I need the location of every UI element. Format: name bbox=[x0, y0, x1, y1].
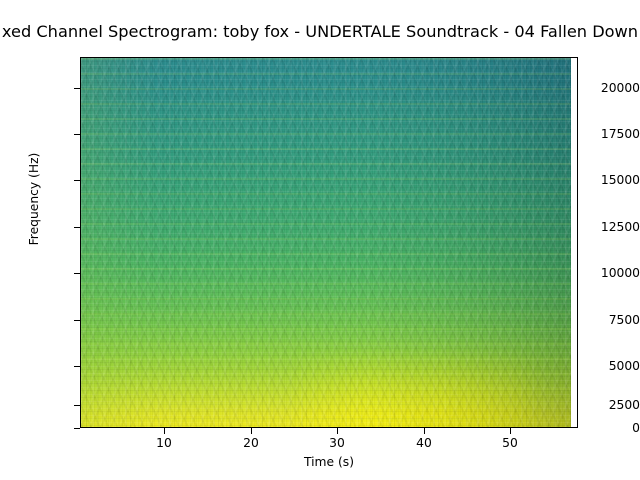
x-ticklabel-50: 50 bbox=[480, 437, 540, 450]
y-axis-label: Frequency (Hz) bbox=[27, 124, 41, 274]
matplotlib-figure: xed Channel Spectrogram: toby fox - UNDE… bbox=[0, 0, 640, 480]
y-ticklabel-5000: 5000 bbox=[572, 360, 640, 372]
x-axis-label: Time (s) bbox=[80, 455, 578, 469]
y-tick-0 bbox=[74, 428, 80, 429]
y-ticklabel-10000: 10000 bbox=[572, 267, 640, 279]
x-tick-30 bbox=[337, 428, 338, 434]
spectrogram-bin-noise bbox=[81, 58, 571, 427]
x-tick-20 bbox=[251, 428, 252, 434]
y-tick-7500 bbox=[74, 320, 80, 321]
y-ticklabel-0: 0 bbox=[572, 422, 640, 434]
y-tick-5000 bbox=[74, 366, 80, 367]
y-ticklabel-7500: 7500 bbox=[572, 314, 640, 326]
chart-title: xed Channel Spectrogram: toby fox - UNDE… bbox=[0, 22, 640, 42]
y-ticklabel-20000: 20000 bbox=[572, 82, 640, 94]
y-tick-17500 bbox=[74, 134, 80, 135]
y-ticklabel-15000: 15000 bbox=[572, 174, 640, 186]
x-ticklabel-20: 20 bbox=[221, 437, 281, 450]
x-ticklabel-10: 10 bbox=[134, 437, 194, 450]
spectrogram-image bbox=[81, 58, 571, 427]
y-tick-2500 bbox=[74, 405, 80, 406]
y-tick-10000 bbox=[74, 273, 80, 274]
y-ticklabel-2500: 2500 bbox=[572, 399, 640, 411]
plot-axes bbox=[80, 57, 578, 428]
y-ticklabel-12500: 12500 bbox=[572, 221, 640, 233]
x-tick-50 bbox=[510, 428, 511, 434]
y-ticklabel-17500: 17500 bbox=[572, 128, 640, 140]
x-ticklabel-30: 30 bbox=[307, 437, 367, 450]
y-tick-15000 bbox=[74, 180, 80, 181]
x-tick-10 bbox=[164, 428, 165, 434]
x-ticklabel-40: 40 bbox=[394, 437, 454, 450]
y-tick-20000 bbox=[74, 88, 80, 89]
x-tick-40 bbox=[424, 428, 425, 434]
y-tick-12500 bbox=[74, 227, 80, 228]
